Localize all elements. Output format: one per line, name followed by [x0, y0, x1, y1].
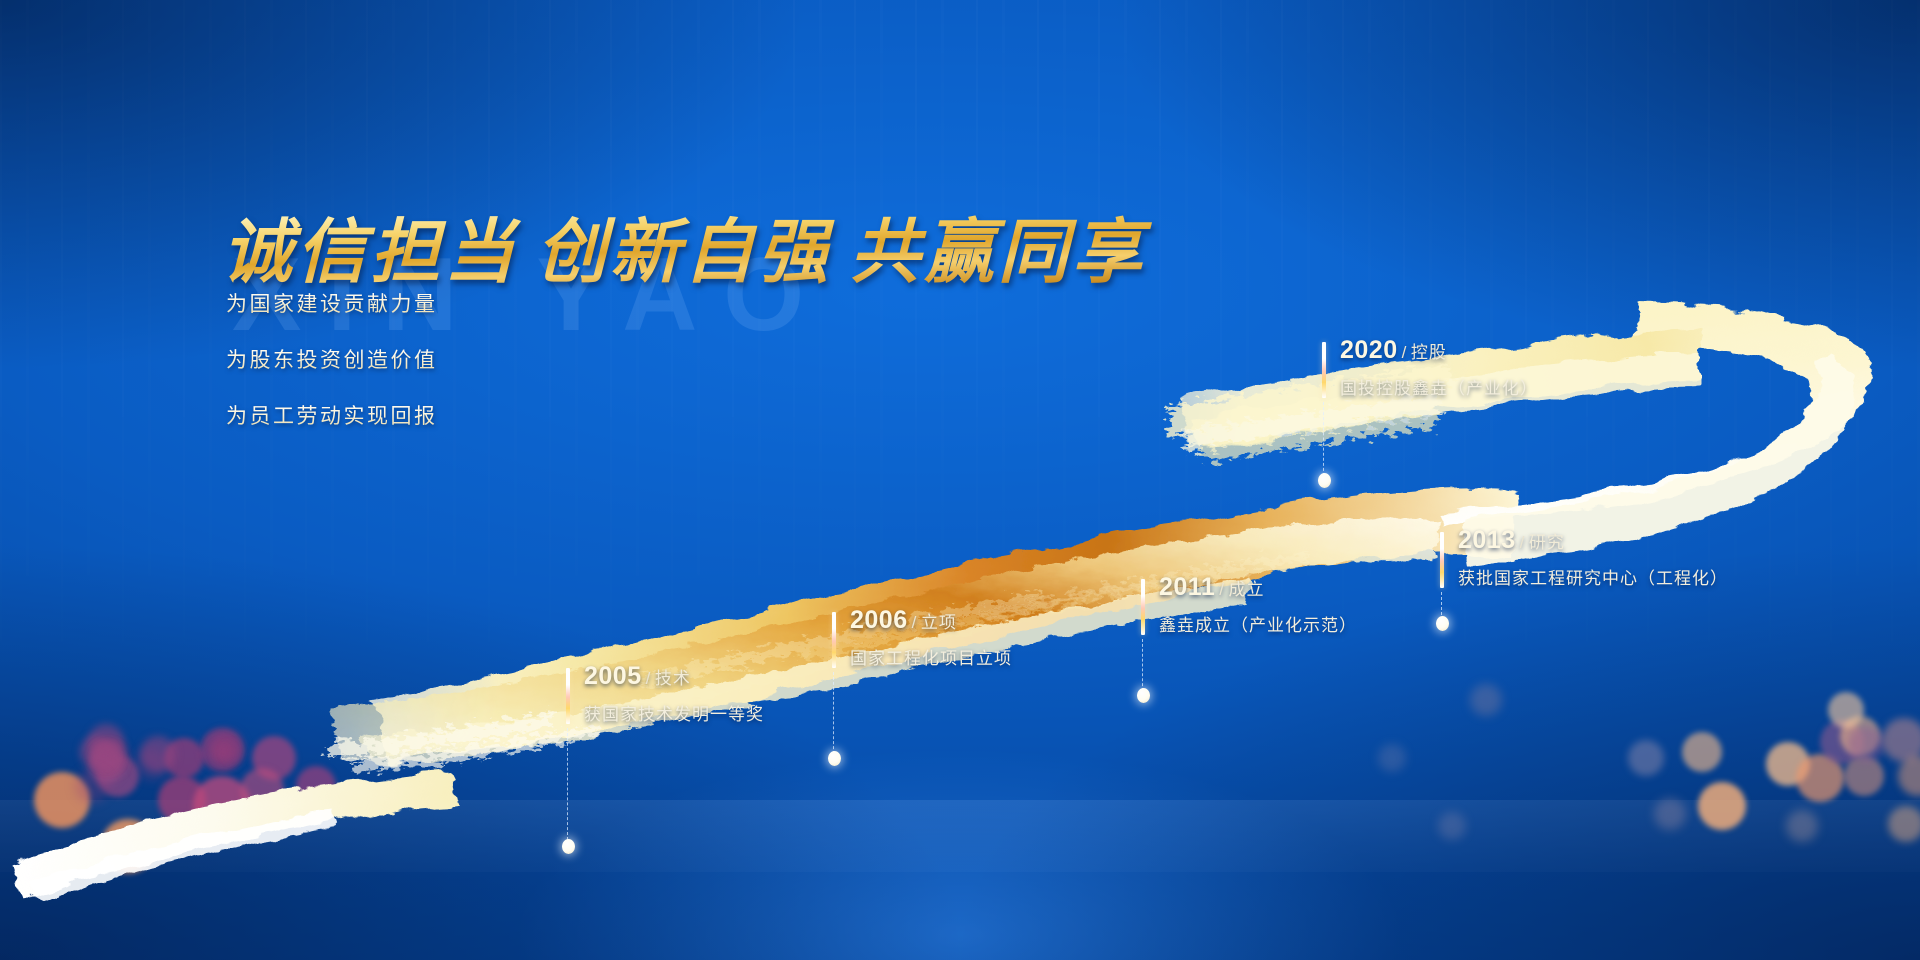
- milestone-dot[interactable]: [828, 751, 841, 766]
- milestone-separator: /: [1215, 580, 1228, 599]
- milestone-description: 鑫垚成立（产业化示范）: [1159, 611, 1357, 636]
- page-title: 诚信担当创新自强共赢同享: [222, 196, 1164, 297]
- milestone-dot[interactable]: [1137, 688, 1150, 703]
- milestone-year-number: 2006: [850, 606, 908, 634]
- milestone-year: 2020/控股: [1340, 336, 1447, 365]
- mission-line: 为股东投资创造价值: [226, 344, 438, 374]
- milestone-separator: /: [642, 669, 655, 688]
- milestone-category: 立项: [921, 613, 957, 632]
- bokeh-circle: [75, 769, 109, 803]
- milestone-dot[interactable]: [562, 839, 575, 854]
- bokeh-circle: [1888, 806, 1920, 842]
- milestone-separator: /: [1516, 533, 1529, 552]
- milestone-description: 国投控股鑫垚（产业化）: [1340, 374, 1538, 399]
- milestone-year: 2011/成立: [1159, 573, 1264, 602]
- milestone-year-number: 2005: [584, 662, 642, 690]
- bokeh-circle: [240, 768, 284, 812]
- milestone-dot[interactable]: [1436, 616, 1449, 631]
- bokeh-circle: [1828, 692, 1864, 728]
- milestone-year: 2006/立项: [850, 606, 957, 635]
- banner-canvas: XIN YAO: [0, 0, 1920, 960]
- milestone-year: 2005/技术: [584, 662, 691, 691]
- milestone-year-number: 2011: [1159, 573, 1215, 601]
- milestone-year-number: 2020: [1340, 336, 1398, 364]
- milestone-connector-line: [1323, 402, 1324, 476]
- bokeh-circle: [1438, 812, 1466, 840]
- milestone-accent-bar: [1322, 342, 1326, 398]
- bokeh-circle: [1848, 726, 1884, 762]
- bokeh-circle: [1786, 810, 1818, 842]
- milestone-category: 控股: [1411, 343, 1447, 362]
- bokeh-circle: [225, 745, 239, 759]
- milestone-description: 国家工程化项目立项: [850, 644, 1012, 669]
- mission-line: 为国家建设贡献力量: [226, 288, 438, 318]
- milestone-description: 获国家技术发明一等奖: [584, 700, 764, 725]
- milestone-year: 2013/研究: [1458, 526, 1565, 555]
- milestone-connector-line: [567, 728, 568, 840]
- headline-part-1: 诚信担当: [222, 215, 536, 292]
- bokeh-circle: [101, 819, 155, 873]
- milestone-accent-bar: [1440, 532, 1444, 588]
- milestone-dot[interactable]: [1318, 473, 1331, 488]
- headline-part-2: 创新自强: [536, 215, 850, 292]
- bokeh-circle: [1628, 740, 1664, 776]
- milestone-separator: /: [908, 613, 921, 632]
- milestone-accent-bar: [566, 668, 570, 724]
- bokeh-circle: [1682, 732, 1722, 772]
- milestone-description: 获批国家工程研究中心（工程化）: [1458, 564, 1728, 589]
- bokeh-circle: [94, 746, 114, 766]
- milestone-connector-line: [833, 672, 834, 754]
- milestone-separator: /: [1398, 343, 1411, 362]
- milestone-category: 研究: [1529, 533, 1565, 552]
- milestone-year-number: 2013: [1458, 526, 1516, 554]
- bokeh-circle: [1844, 756, 1884, 796]
- milestone-category: 成立: [1228, 580, 1264, 599]
- bokeh-circle: [1654, 798, 1686, 830]
- background-corner-vignette: [0, 0, 1920, 960]
- milestone-accent-bar: [1141, 579, 1145, 635]
- bokeh-circle: [296, 766, 336, 806]
- bokeh-circle: [136, 748, 168, 780]
- milestone-category: 技术: [655, 669, 691, 688]
- bokeh-circle: [1470, 684, 1502, 716]
- bokeh-circle: [1698, 782, 1746, 830]
- bokeh-circle: [1378, 744, 1406, 772]
- headline-part-3: 共赢同享: [850, 215, 1164, 292]
- mission-statement-list: 为国家建设贡献力量 为股东投资创造价值 为员工劳动实现回报: [226, 288, 438, 456]
- milestone-connector-line: [1142, 639, 1143, 691]
- milestone-accent-bar: [832, 612, 836, 668]
- mission-line: 为员工劳动实现回报: [226, 400, 438, 430]
